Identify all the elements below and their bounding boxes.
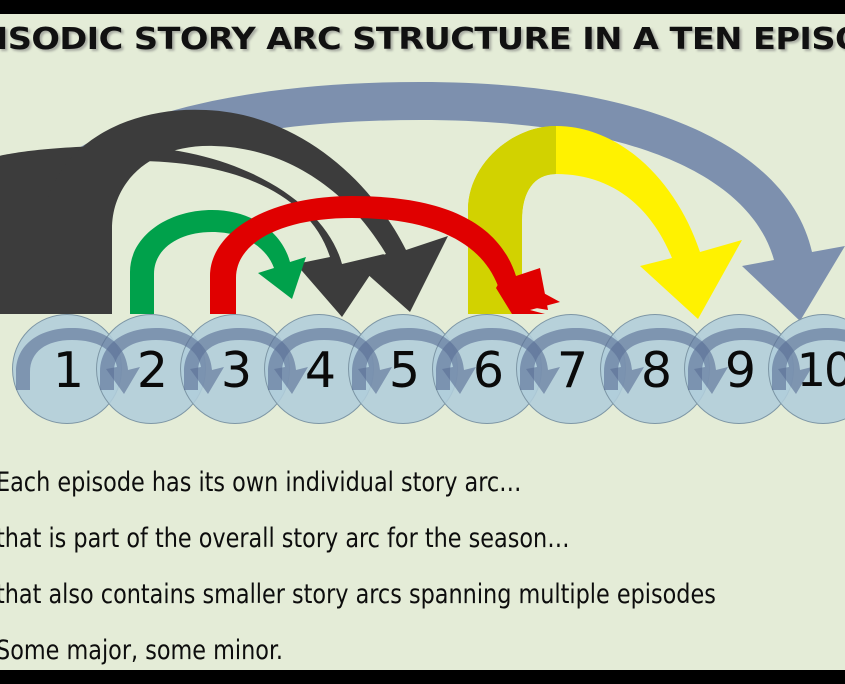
caption-text: that also contains smaller story arcs sp… (0, 581, 716, 608)
episode-row: 1 2 3 4 5 6 7 8 9 10 (0, 314, 845, 434)
episode-number: 10 (769, 315, 845, 425)
slide-canvas: EPISODIC STORY ARC STRUCTURE IN A TEN EP… (0, 0, 845, 684)
caption-row-2: that is part of the overall story arc fo… (0, 510, 845, 566)
caption-text: Each episode has its own individual stor… (0, 469, 521, 496)
caption-text: that is part of the overall story arc fo… (0, 525, 570, 552)
caption-row-1: Each episode has its own individual stor… (0, 454, 845, 510)
caption-list: Each episode has its own individual stor… (0, 454, 845, 678)
caption-row-3: that also contains smaller story arcs sp… (0, 566, 845, 622)
caption-text: Some major, some minor. (0, 637, 283, 664)
episode-circle-10[interactable]: 10 (768, 314, 845, 424)
caption-row-4: Some major, some minor. (0, 622, 845, 678)
